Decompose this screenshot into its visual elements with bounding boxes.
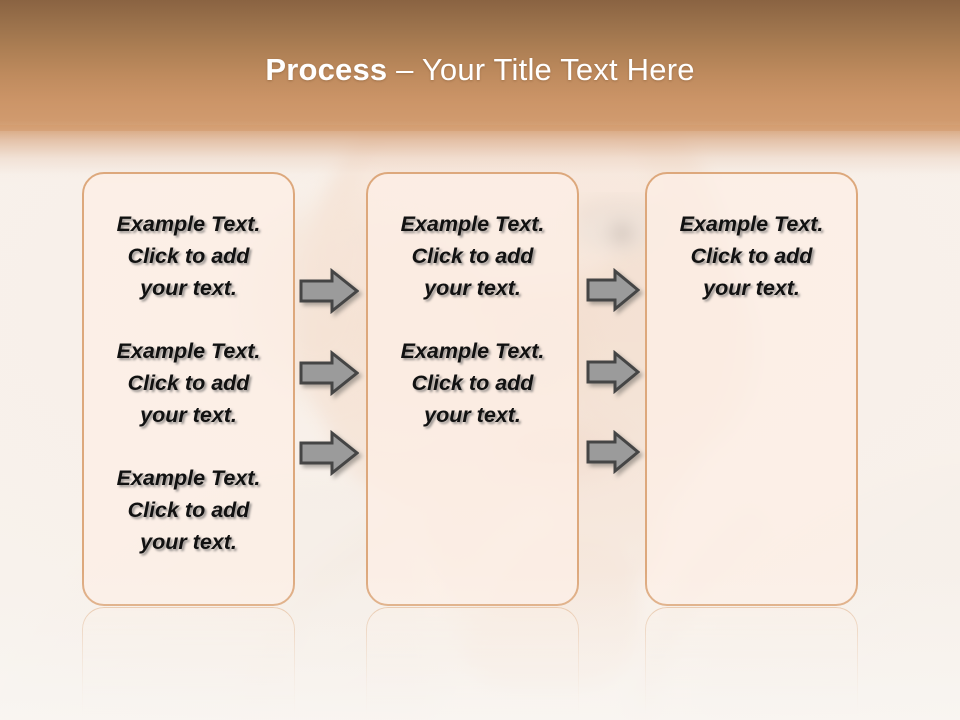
right-arrow-icon-2b[interactable] bbox=[586, 350, 640, 394]
page-title-rest: – Your Title Text Here bbox=[387, 52, 694, 87]
process-box-1[interactable]: Example Text. Click to add your text. Ex… bbox=[82, 172, 295, 606]
process-box-1-paragraph-2[interactable]: Example Text. Click to add your text. bbox=[96, 335, 281, 431]
process-box-1-paragraph-3[interactable]: Example Text. Click to add your text. bbox=[96, 462, 281, 558]
process-box-2-paragraph-2[interactable]: Example Text. Click to add your text. bbox=[380, 335, 565, 431]
process-box-1-paragraph-1[interactable]: Example Text. Click to add your text. bbox=[96, 208, 281, 304]
process-box-3-body: Example Text. Click to add your text. bbox=[659, 208, 844, 304]
slide-canvas: Process – Your Title Text Here Example T… bbox=[0, 0, 960, 720]
right-arrow-icon-1c[interactable] bbox=[299, 430, 359, 476]
process-box-3[interactable]: Example Text. Click to add your text. bbox=[645, 172, 858, 606]
right-arrow-icon-2c[interactable] bbox=[586, 430, 640, 474]
right-arrow-icon-2a[interactable] bbox=[586, 268, 640, 312]
process-box-3-paragraph-1[interactable]: Example Text. Click to add your text. bbox=[659, 208, 844, 304]
process-box-2-body: Example Text. Click to add your text. Ex… bbox=[380, 208, 565, 431]
right-arrow-icon-1a[interactable] bbox=[299, 268, 359, 314]
page-title: Process – Your Title Text Here bbox=[0, 52, 960, 88]
page-title-strong: Process bbox=[265, 52, 387, 87]
process-box-1-body: Example Text. Click to add your text. Ex… bbox=[96, 208, 281, 558]
right-arrow-icon-1b[interactable] bbox=[299, 350, 359, 396]
process-box-2[interactable]: Example Text. Click to add your text. Ex… bbox=[366, 172, 579, 606]
process-box-2-paragraph-1[interactable]: Example Text. Click to add your text. bbox=[380, 208, 565, 304]
